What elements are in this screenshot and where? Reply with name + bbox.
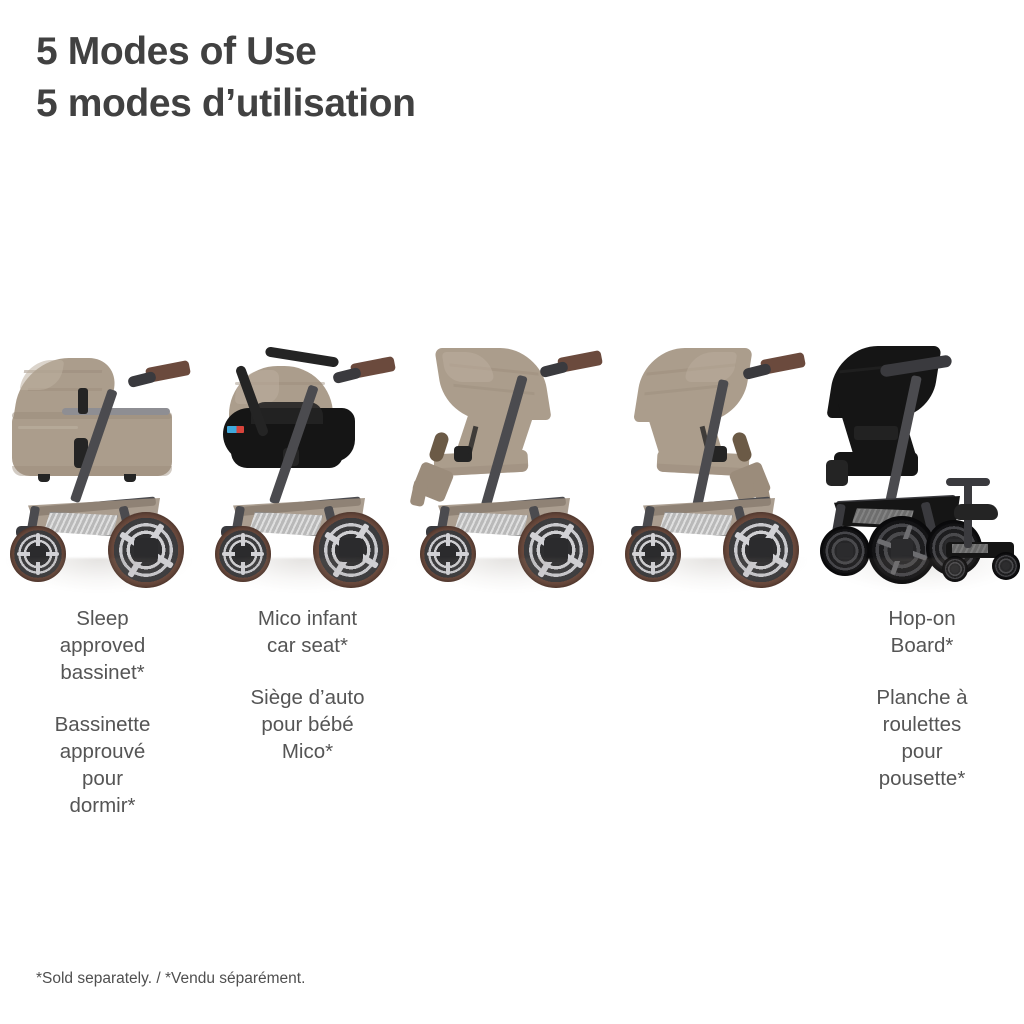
caption-seat-forward-facing: [410, 605, 615, 819]
product-image-hop-on-board: [820, 300, 1024, 590]
page-title: 5 Modes of Use 5 modes d’utilisation: [36, 26, 416, 130]
caption-hop-on-board-en: Hop-on Board*: [820, 605, 1024, 659]
rear-wheel: [108, 512, 184, 588]
caption-bassinet-fr: Bassinette approuvé pour dormir*: [0, 711, 205, 819]
caption-hop-on-board: Hop-on Board* Planche à roulettes pour p…: [820, 605, 1024, 819]
warning-label-sticker: [227, 426, 244, 433]
product-image-seat-parent-facing: [615, 300, 820, 590]
product-image-infant-car-seat: [205, 300, 410, 590]
caption-infant-car-seat-fr: Siège d’auto pour bébé Mico*: [205, 684, 410, 765]
caption-infant-car-seat: Mico infant car seat* Siège d’auto pour …: [205, 605, 410, 819]
front-wheel: [215, 526, 271, 582]
caption-hop-on-board-fr: Planche à roulettes pour pousette*: [820, 684, 1024, 792]
rear-wheel: [313, 512, 389, 588]
board-wheel-front: [942, 556, 968, 582]
board-handlebar: [946, 478, 990, 486]
rear-wheel: [518, 512, 594, 588]
caption-bassinet-en: Sleep approved bassinet*: [0, 605, 205, 686]
front-wheel: [420, 526, 476, 582]
caption-bassinet: Sleep approved bassinet* Bassinette appr…: [0, 605, 205, 819]
title-line-french: 5 modes d’utilisation: [36, 78, 416, 130]
caption-seat-parent-facing: [615, 605, 820, 819]
rear-wheel: [723, 512, 799, 588]
front-wheel: [625, 526, 681, 582]
board-wheel-rear: [992, 552, 1020, 580]
board-saddle: [954, 504, 998, 520]
product-image-row: [0, 300, 1024, 590]
front-wheel: [10, 526, 66, 582]
title-line-english: 5 Modes of Use: [36, 26, 416, 78]
product-image-seat-forward-facing: [410, 300, 615, 590]
front-wheel: [820, 526, 870, 576]
footnote-sold-separately: *Sold separately. / *Vendu séparément.: [36, 970, 305, 988]
caption-infant-car-seat-en: Mico infant car seat*: [205, 605, 410, 659]
caption-row: Sleep approved bassinet* Bassinette appr…: [0, 605, 1024, 819]
product-image-bassinet: [0, 300, 205, 590]
